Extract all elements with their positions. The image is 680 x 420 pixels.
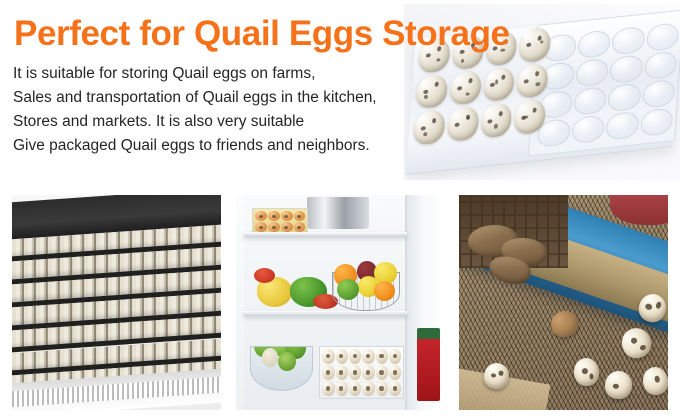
banner-headline: Perfect for Quail Eggs Storage bbox=[14, 13, 674, 55]
quail-egg bbox=[362, 365, 374, 380]
quail-egg bbox=[349, 365, 361, 380]
quail-egg bbox=[349, 381, 361, 396]
egg-cell bbox=[639, 107, 673, 137]
photo-strip bbox=[12, 195, 668, 410]
description-line: Sales and transportation of Quail eggs i… bbox=[13, 86, 483, 110]
egg bbox=[255, 211, 267, 221]
fridge-scene bbox=[236, 195, 445, 410]
jar-lid bbox=[417, 328, 440, 339]
quail-egg bbox=[389, 349, 401, 364]
farm-scene bbox=[459, 195, 668, 410]
shelf-scene bbox=[12, 195, 221, 410]
quail-egg bbox=[336, 365, 348, 380]
banner-description: It is suitable for storing Quail eggs on… bbox=[13, 62, 483, 158]
stock-pot bbox=[307, 197, 370, 229]
cabbage bbox=[262, 348, 278, 367]
quail-egg bbox=[513, 99, 546, 135]
orange bbox=[374, 281, 395, 301]
fridge-shelf bbox=[244, 232, 407, 237]
sauce-jar bbox=[417, 337, 440, 402]
quail-egg bbox=[349, 349, 361, 364]
quail-egg bbox=[389, 365, 401, 380]
quail-egg bbox=[322, 365, 334, 380]
egg bbox=[268, 211, 280, 221]
lettuce bbox=[278, 352, 296, 372]
quail-egg bbox=[336, 381, 348, 396]
description-line: It is suitable for storing Quail eggs on… bbox=[13, 62, 483, 86]
egg-cell bbox=[643, 51, 677, 81]
egg-cell bbox=[573, 86, 607, 116]
egg-cell bbox=[609, 54, 643, 84]
egg-cell bbox=[607, 83, 641, 113]
quail-farm-photo bbox=[459, 195, 668, 410]
fridge-shelf bbox=[244, 311, 407, 316]
quail-egg bbox=[362, 349, 374, 364]
quail-egg bbox=[482, 66, 515, 102]
quail-egg bbox=[480, 102, 513, 138]
egg-cell bbox=[641, 79, 675, 109]
egg-cell bbox=[575, 58, 609, 88]
egg-cell bbox=[605, 111, 639, 141]
salad-bowl bbox=[250, 346, 313, 391]
product-banner: Perfect for Quail Eggs Storage It is sui… bbox=[0, 0, 680, 420]
quail-egg bbox=[322, 349, 334, 364]
supermarket-shelf-photo bbox=[12, 195, 221, 410]
quail-egg bbox=[376, 365, 388, 380]
quail-egg bbox=[376, 381, 388, 396]
quail-egg bbox=[389, 381, 401, 396]
egg bbox=[294, 211, 306, 221]
egg-cell bbox=[571, 114, 605, 144]
quail-egg bbox=[516, 63, 549, 99]
refrigerator-photo bbox=[236, 195, 445, 410]
quail-egg bbox=[336, 349, 348, 364]
quail-egg bbox=[322, 381, 334, 396]
description-line: Stores and markets. It is also very suit… bbox=[13, 110, 483, 134]
egg bbox=[281, 211, 293, 221]
quail-egg bbox=[362, 381, 374, 396]
wire-fruit-basket bbox=[332, 272, 401, 311]
description-line: Give packaged Quail eggs to friends and … bbox=[13, 134, 483, 158]
green-apple bbox=[337, 279, 360, 301]
quail-egg bbox=[376, 349, 388, 364]
quail-egg-tray bbox=[319, 346, 404, 399]
